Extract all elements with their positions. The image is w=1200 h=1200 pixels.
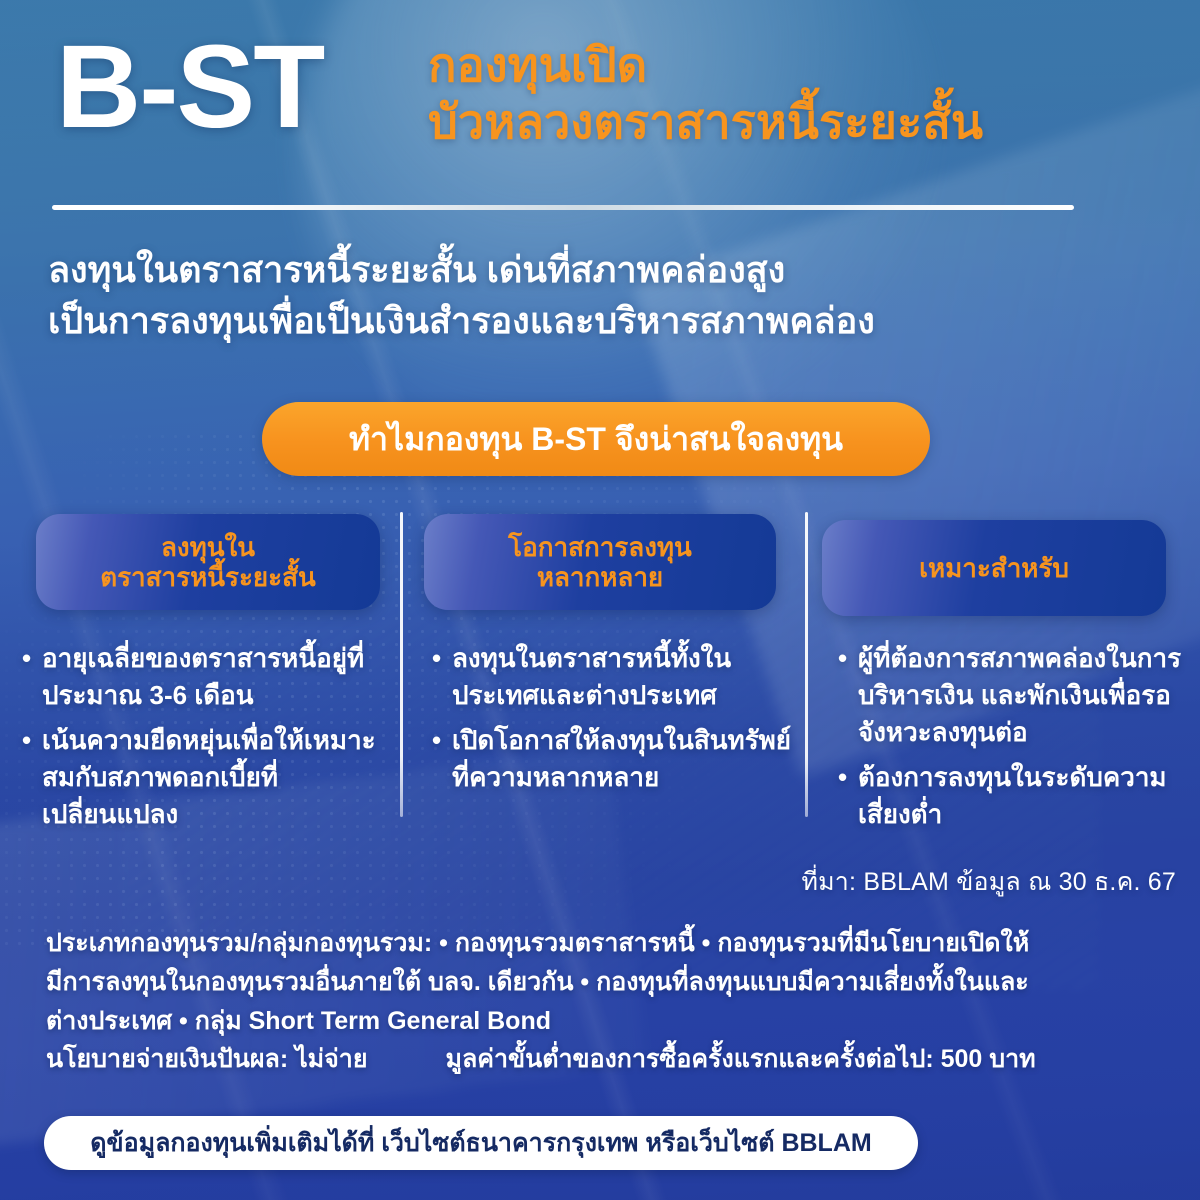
card-header-line-1: โอกาสการลงทุน	[508, 532, 692, 562]
subtitle-line-2: เป็นการลงทุนเพื่อเป็นเงินสำรองและบริหารส…	[48, 295, 1158, 346]
more-info-banner[interactable]: ดูข้อมูลกองทุนเพิ่มเติมได้ที่ เว็บไซต์ธน…	[44, 1116, 918, 1170]
subtitle-line-1: ลงทุนในตราสารหนี้ระยะสั้น เด่นที่สภาพคล่…	[48, 244, 1158, 295]
card-header-short-term-bonds: ลงทุนใน ตราสารหนี้ระยะสั้น	[36, 514, 380, 610]
card-header-diverse-opportunities: โอกาสการลงทุน หลากหลาย	[424, 514, 776, 610]
card-header-text: เหมาะสำหรับ	[919, 553, 1069, 583]
card-header-line-2: หลากหลาย	[537, 562, 663, 592]
bullet-marker-icon: •	[838, 640, 858, 677]
bullet-column-short-term-bonds: • อายุเฉลี่ยของตราสารหนี้อยู่ที่ประมาณ 3…	[22, 640, 394, 841]
card-header-line-1: เหมาะสำหรับ	[919, 553, 1069, 583]
source-note: ที่มา: BBLAM ข้อมูล ณ 30 ธ.ค. 67	[801, 862, 1176, 902]
list-item-text: เปิดโอกาสให้ลงทุนในสินทรัพย์ที่ความหลากห…	[452, 722, 794, 796]
legal-line-3: ต่างประเทศ • กลุ่ม Short Term General Bo…	[46, 1002, 1166, 1041]
card-header-text: ลงทุนใน ตราสารหนี้ระยะสั้น	[100, 532, 316, 592]
column-divider-1	[400, 512, 403, 817]
infographic-page: B-ST กองทุนเปิด บัวหลวงตราสารหนี้ระยะสั้…	[0, 0, 1200, 1200]
fund-name-line-2: บัวหลวงตราสารหนี้ระยะสั้น	[428, 97, 1148, 148]
list-item-text: ผู้ที่ต้องการสภาพคล่องในการบริหารเงิน แล…	[858, 640, 1190, 751]
why-invest-banner[interactable]: ทำไมกองทุน B-ST จึงน่าสนใจลงทุน	[262, 402, 930, 476]
legal-disclaimer: ประเภทกองทุนรวม/กลุ่มกองทุนรวม: • กองทุน…	[46, 924, 1166, 1079]
legal-line-2: มีการลงทุนในกองทุนรวมอื่นภายใต้ บลจ. เดี…	[46, 963, 1166, 1002]
card-header-suitable-for: เหมาะสำหรับ	[822, 520, 1166, 616]
list-item: • ผู้ที่ต้องการสภาพคล่องในการบริหารเงิน …	[838, 640, 1190, 751]
bullet-marker-icon: •	[22, 640, 42, 677]
list-item: • อายุเฉลี่ยของตราสารหนี้อยู่ที่ประมาณ 3…	[22, 640, 394, 714]
list-item-text: ต้องการลงทุนในระดับความเสี่ยงต่ำ	[858, 759, 1190, 833]
fund-code-title: B-ST	[56, 28, 323, 146]
card-header-line-2: ตราสารหนี้ระยะสั้น	[100, 562, 316, 592]
legal-line-4: นโยบายจ่ายเงินปันผล: ไม่จ่าย มูลค่าขั้นต…	[46, 1040, 1166, 1079]
header-divider	[52, 205, 1074, 210]
legal-line-1: ประเภทกองทุนรวม/กลุ่มกองทุนรวม: • กองทุน…	[46, 924, 1166, 963]
dividend-policy-text: นโยบายจ่ายเงินปันผล: ไม่จ่าย	[46, 1040, 367, 1079]
list-item-text: อายุเฉลี่ยของตราสารหนี้อยู่ที่ประมาณ 3-6…	[42, 640, 394, 714]
list-item-text: เน้นความยืดหยุ่นเพื่อให้เหมาะสมกับสภาพดอ…	[42, 722, 394, 833]
list-item: • เปิดโอกาสให้ลงทุนในสินทรัพย์ที่ความหลา…	[432, 722, 794, 796]
column-divider-2	[805, 512, 808, 817]
list-item: • เน้นความยืดหยุ่นเพื่อให้เหมาะสมกับสภาพ…	[22, 722, 394, 833]
minimum-purchase-text: มูลค่าขั้นต่ำของการซื้อครั้งแรกและครั้งต…	[445, 1040, 1035, 1079]
content-layer: B-ST กองทุนเปิด บัวหลวงตราสารหนี้ระยะสั้…	[0, 0, 1200, 1200]
subtitle-block: ลงทุนในตราสารหนี้ระยะสั้น เด่นที่สภาพคล่…	[48, 244, 1158, 346]
list-item: • ต้องการลงทุนในระดับความเสี่ยงต่ำ	[838, 759, 1190, 833]
card-header-text: โอกาสการลงทุน หลากหลาย	[508, 532, 692, 592]
fund-name-block: กองทุนเปิด บัวหลวงตราสารหนี้ระยะสั้น	[428, 40, 1148, 148]
bullet-marker-icon: •	[838, 759, 858, 796]
header: B-ST กองทุนเปิด บัวหลวงตราสารหนี้ระยะสั้…	[56, 34, 1146, 189]
fund-name-line-1: กองทุนเปิด	[428, 40, 1148, 91]
bullet-column-diverse-opportunities: • ลงทุนในตราสารหนี้ทั้งในประเทศและต่างปร…	[432, 640, 794, 804]
card-header-line-1: ลงทุนใน	[161, 532, 255, 562]
list-item-text: ลงทุนในตราสารหนี้ทั้งในประเทศและต่างประเ…	[452, 640, 794, 714]
bullet-marker-icon: •	[432, 640, 452, 677]
bullet-column-suitable-for: • ผู้ที่ต้องการสภาพคล่องในการบริหารเงิน …	[838, 640, 1190, 841]
bullet-marker-icon: •	[22, 722, 42, 759]
bullet-marker-icon: •	[432, 722, 452, 759]
list-item: • ลงทุนในตราสารหนี้ทั้งในประเทศและต่างปร…	[432, 640, 794, 714]
